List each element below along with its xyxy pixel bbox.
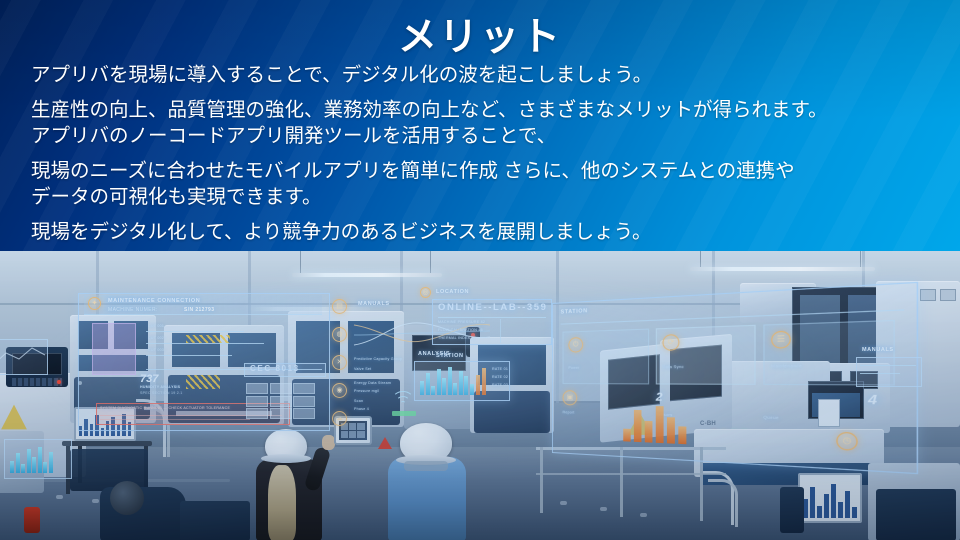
hose	[708, 479, 738, 527]
control-panel-screen	[12, 353, 62, 375]
safety-railing	[536, 447, 726, 450]
floor-marking	[600, 507, 607, 511]
keypad	[12, 378, 62, 386]
spindle-head	[110, 481, 144, 515]
cabinet-vent	[920, 289, 936, 301]
worker-blue-collar	[404, 461, 448, 471]
light-rod	[700, 251, 701, 267]
machine-base	[0, 431, 44, 493]
worker-tablet-hair	[268, 465, 296, 540]
fire-extinguisher	[24, 507, 40, 533]
paragraph-4-line-1: 現場をデジタル化して、より競争力のあるビジネスを展開しましょう。	[31, 219, 936, 245]
status-led	[57, 380, 61, 384]
monitor-bar-chart	[79, 412, 131, 436]
floor-marking	[560, 501, 567, 505]
cabinet-vent	[940, 289, 956, 301]
cnc-tower-screen	[668, 345, 722, 402]
wall-column	[556, 251, 559, 403]
slide-root: メリット アプリバを現場に導入することで、デジタル化の波を起こしましょう。 生産…	[0, 0, 960, 540]
body-copy: アプリバを現場に導入することで、デジタル化の波を起こしましょう。 生産性の向上、…	[31, 62, 936, 245]
chart-monitor	[74, 407, 136, 441]
worker-tablet-helmet-brim	[261, 454, 311, 463]
light-rod	[860, 251, 861, 267]
monitor-neck	[78, 381, 82, 385]
safety-railing	[536, 473, 726, 475]
equipment-box	[780, 487, 804, 533]
railing-post	[620, 447, 623, 517]
foreground-equipment	[180, 501, 250, 540]
floor-marking	[640, 513, 647, 517]
factory-photo: C-BH	[0, 251, 960, 540]
ceiling-light	[292, 273, 442, 277]
paragraph-3-line-2: データの可視化も実現できます。	[31, 184, 936, 210]
machine-display	[478, 345, 546, 385]
monitor-bar-chart	[803, 482, 857, 518]
paragraph-2: 生産性の向上、品質管理の強化、業務効率の向上など、さまざまなメリットが得られます…	[31, 97, 936, 149]
machine-screen	[412, 335, 466, 371]
hud-tile-label-4: Report	[563, 410, 575, 414]
machine-display	[78, 321, 108, 349]
paragraph-3: 現場のニーズに合わせたモバイルアプリを簡単に作成 さらに、他のシステムとの連携や…	[31, 158, 936, 210]
machine-trim	[176, 411, 272, 416]
paragraph-1-line-1: アプリバを現場に導入することで、デジタル化の波を起こしましょう。	[31, 62, 936, 88]
floor-marking	[56, 495, 63, 499]
paragraph-2-line-1: 生産性の向上、品質管理の強化、業務効率の向上など、さまざまなメリットが得られます…	[31, 97, 936, 123]
railing-post	[700, 447, 703, 521]
tablet-device[interactable]	[334, 416, 372, 445]
light-rod	[300, 251, 301, 273]
machine-display	[114, 321, 148, 349]
light-rod	[430, 251, 431, 273]
machine-label-cbh: C-BH	[700, 421, 716, 427]
page-title: メリット	[0, 6, 960, 62]
machine-display	[348, 321, 394, 373]
machine-display	[296, 321, 340, 373]
paragraph-1: アプリバを現場に導入することで、デジタル化の波を起こしましょう。	[31, 62, 936, 88]
chart-monitor	[798, 473, 862, 523]
header-band: メリット アプリバを現場に導入することで、デジタル化の波を起こしましょう。 生産…	[0, 0, 960, 251]
machine-display	[228, 333, 276, 367]
cnc-door-window	[818, 399, 840, 427]
railing-post	[540, 447, 543, 513]
workbench-drawers	[876, 489, 956, 540]
cnc-tower-screen	[608, 354, 660, 409]
paragraph-2-line-2: アプリバのノーコードアプリ開発ツールを活用することで、	[31, 123, 936, 149]
machine-display	[172, 333, 220, 367]
machine-display	[78, 355, 148, 371]
floor-marking	[92, 499, 99, 503]
machine-body	[474, 391, 550, 433]
paragraph-3-line-1: 現場のニーズに合わせたモバイルアプリを簡単に作成 さらに、他のシステムとの連携や	[31, 158, 936, 184]
paragraph-4: 現場をデジタル化して、より競争力のあるビジネスを展開しましょう。	[31, 219, 936, 245]
tablet-screen	[339, 421, 367, 440]
ceiling-light	[690, 267, 875, 271]
